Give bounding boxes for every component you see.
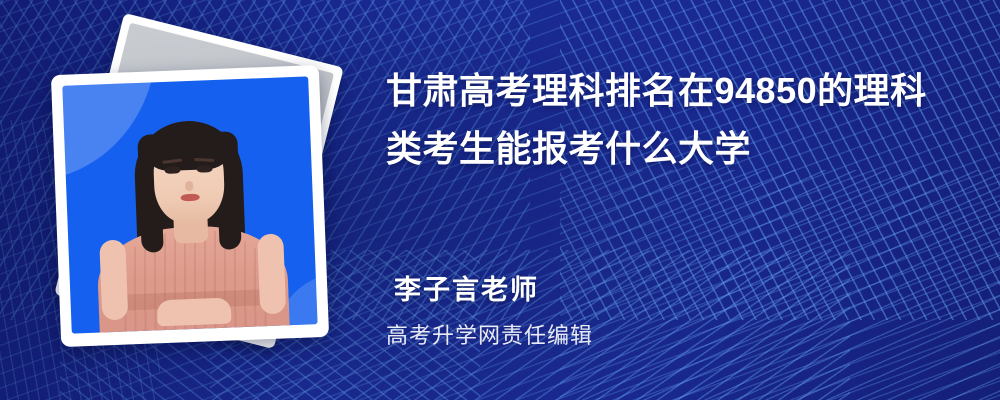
banner-text-column: 甘肃高考理科排名在94850的理科类考生能报考什么大学 李子言老师 高考升学网责… [386,0,986,400]
photo-stack [40,18,340,378]
teacher-portrait-photo [62,76,317,333]
portrait-mouth [180,193,199,201]
article-header-banner: 甘肃高考理科排名在94850的理科类考生能报考什么大学 李子言老师 高考升学网责… [0,0,1000,400]
portrait-arm-left [99,240,128,321]
portrait-illustration [62,76,317,333]
portrait-arm-right [257,234,286,315]
author-name: 李子言老师 [394,268,539,307]
photo-card-front [51,65,329,347]
author-role: 高考升学网责任编辑 [386,318,593,350]
article-headline: 甘肃高考理科排名在94850的理科类考生能报考什么大学 [386,62,952,178]
portrait-hands [157,298,232,327]
